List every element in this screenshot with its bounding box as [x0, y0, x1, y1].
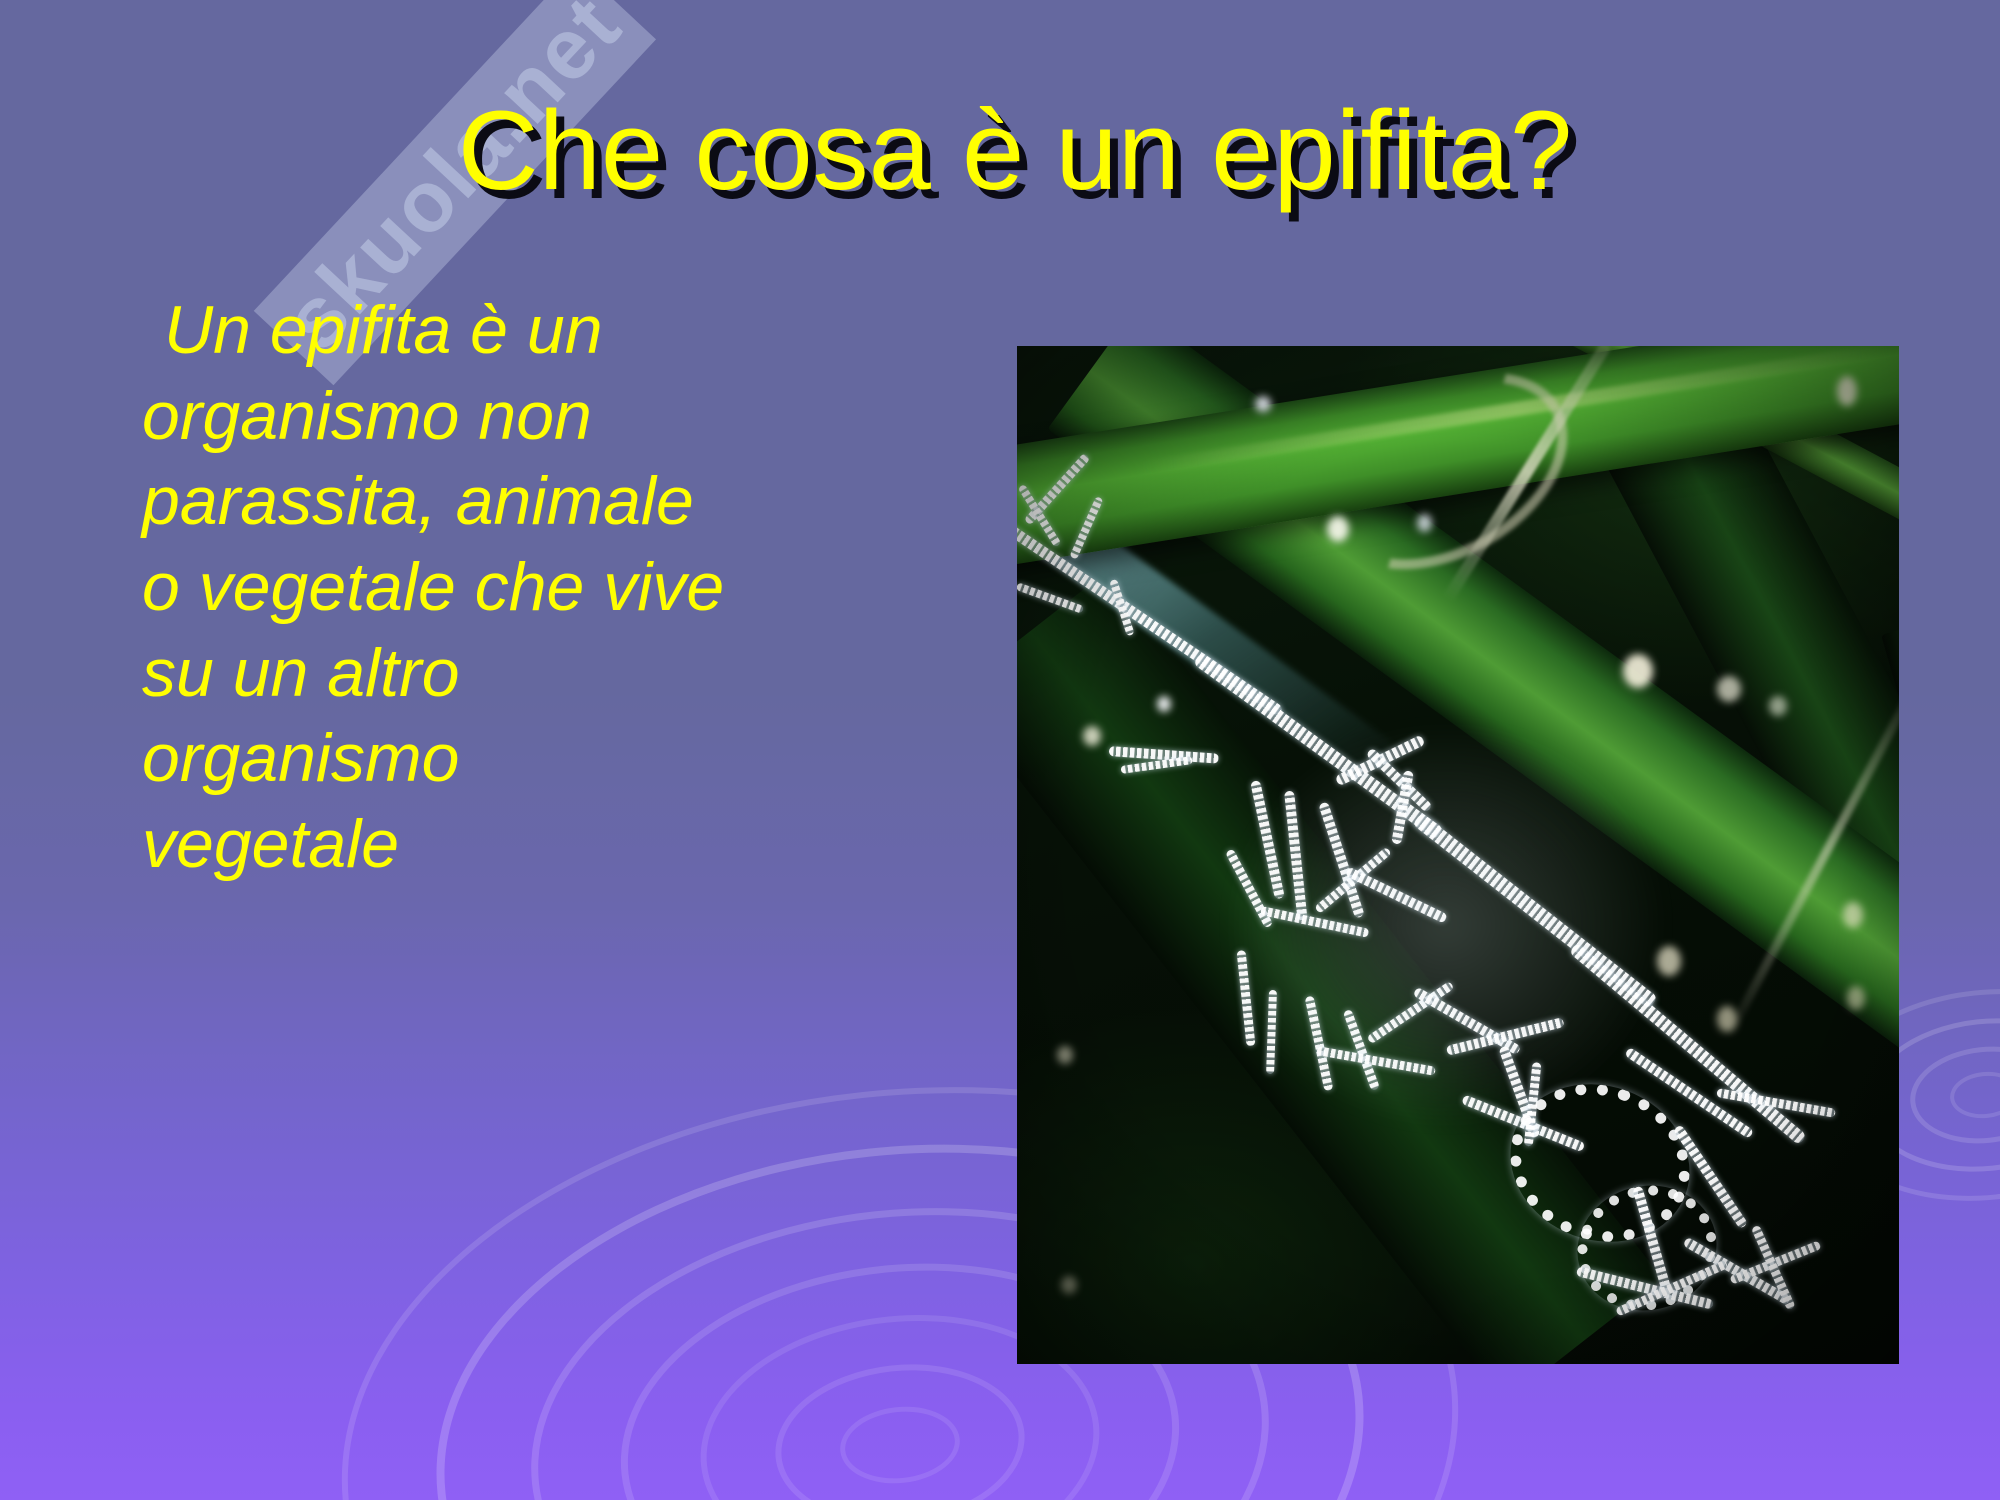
ripple-ring	[767, 1352, 1032, 1500]
body-line: o vegetale che vive	[142, 545, 802, 631]
slide-body-text: Un epifita è un organismo non parassita,…	[142, 288, 802, 888]
body-line: organismo non	[142, 374, 802, 460]
epiphyte-photo	[1017, 346, 1899, 1364]
photo-vignette	[1017, 346, 1899, 1364]
body-line: parassita, animale	[142, 459, 802, 545]
photo-content	[1017, 346, 1899, 1364]
body-line: su un altro	[142, 631, 802, 717]
body-line: organismo	[142, 716, 802, 802]
body-line: vegetale	[142, 802, 802, 888]
ripple-ring-secondary	[1905, 1039, 2000, 1150]
body-line: Un epifita è un	[142, 288, 802, 374]
presentation-slide: skuola.net Che cosa è un epifita? Un epi…	[0, 0, 2000, 1500]
ripple-ring	[836, 1401, 963, 1489]
slide-title: Che cosa è un epifita?	[0, 92, 2000, 210]
ripple-ring-secondary	[1948, 1068, 2000, 1121]
